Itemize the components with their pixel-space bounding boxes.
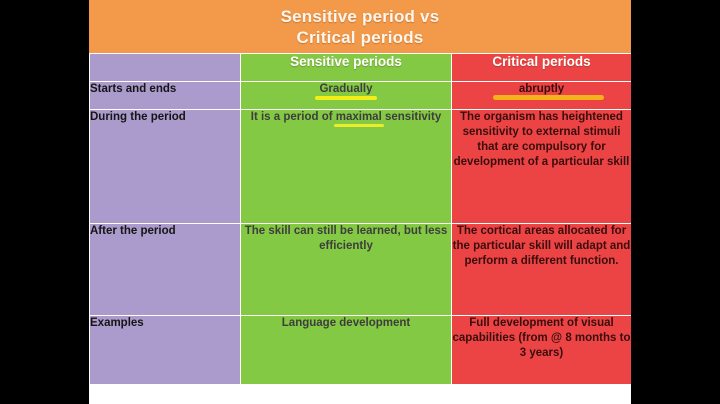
cell-sensitive-during-the-period: It is a period of maximal sensitivity	[241, 110, 452, 224]
table-header-blank-cell	[90, 54, 241, 82]
cell-text-highlight: maximal	[336, 111, 382, 123]
letterbox-bar-right	[631, 0, 720, 404]
highlighted-text-abruptly: abruptly	[519, 82, 564, 97]
row-label-during-the-period: During the period	[90, 110, 241, 224]
cell-critical-after-the-period: The cortical areas allocated for the par…	[452, 224, 632, 316]
cell-critical-examples: Full development of visual capabilities …	[452, 316, 632, 385]
table-header-row: Sensitive periods Critical periods	[90, 54, 632, 82]
slide-title-banner: Sensitive period vs Critical periods	[89, 0, 631, 53]
cell-sensitive-examples: Language development	[241, 316, 452, 385]
letterbox-bar-left	[0, 0, 89, 404]
table-row: Starts and ends Gradually abruptly	[90, 82, 632, 110]
cell-text-suffix: sensitivity	[382, 111, 441, 123]
cell-text: Gradually	[319, 83, 372, 95]
row-label-after-the-period: After the period	[90, 224, 241, 316]
cell-sensitive-after-the-period: The skill can still be learned, but less…	[241, 224, 452, 316]
cell-text-prefix: It is a period of	[251, 111, 336, 123]
cell-critical-during-the-period: The organism has heightened sensitivity …	[452, 110, 632, 224]
page-title: Sensitive period vs Critical periods	[281, 6, 440, 48]
column-header-sensitive: Sensitive periods	[241, 54, 452, 82]
slide-canvas: Sensitive period vs Critical periods Sen…	[0, 0, 720, 404]
comparison-table: Sensitive periods Critical periods Start…	[89, 53, 632, 385]
page-title-line-2: Critical periods	[297, 28, 424, 47]
row-label-starts-and-ends: Starts and ends	[90, 82, 241, 110]
cell-sensitive-starts-and-ends: Gradually	[241, 82, 452, 110]
table-row: After the period The skill can still be …	[90, 224, 632, 316]
row-label-examples: Examples	[90, 316, 241, 385]
page-title-line-1: Sensitive period vs	[281, 7, 440, 26]
table-row: During the period It is a period of maxi…	[90, 110, 632, 224]
cell-text: abruptly	[519, 83, 564, 95]
highlighted-text-maximal: maximal	[336, 110, 382, 125]
cell-critical-starts-and-ends: abruptly	[452, 82, 632, 110]
column-header-critical: Critical periods	[452, 54, 632, 82]
table-row: Examples Language development Full devel…	[90, 316, 632, 385]
highlighted-text-gradually: Gradually	[319, 82, 372, 97]
